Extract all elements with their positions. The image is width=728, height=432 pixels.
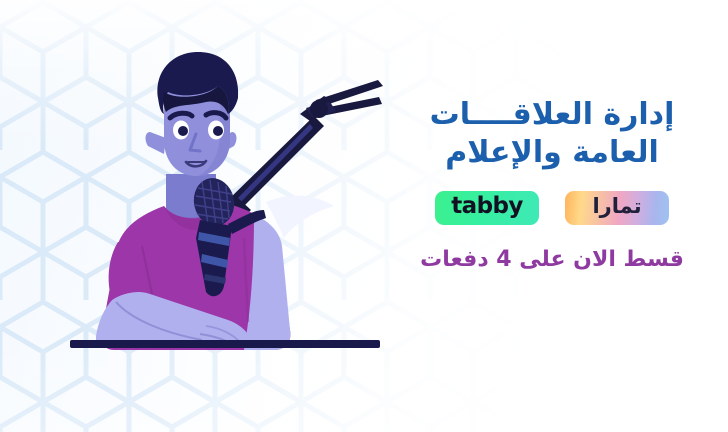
installment-tagline: قسط الان على 4 دفعات	[394, 247, 710, 272]
tamara-badge[interactable]: تمارا	[565, 191, 669, 225]
promotional-banner: إدارة العلاقــــات العامة والإعلام tabby…	[0, 0, 728, 432]
head	[146, 52, 239, 176]
headline-line-1: إدارة العلاقــــات	[394, 96, 710, 134]
desk-surface	[70, 340, 380, 348]
payment-badges: tabby تمارا	[394, 191, 710, 225]
headline-line-2: العامة والإعلام	[394, 134, 710, 172]
person-with-microphone-illustration	[38, 42, 398, 360]
tabby-badge-label: tabby	[451, 195, 522, 218]
tamara-badge-label: تمارا	[592, 196, 641, 217]
page-title: إدارة العلاقــــات العامة والإعلام	[394, 96, 710, 173]
banner-content: إدارة العلاقــــات العامة والإعلام tabby…	[394, 96, 710, 272]
tabby-badge[interactable]: tabby	[435, 191, 539, 225]
